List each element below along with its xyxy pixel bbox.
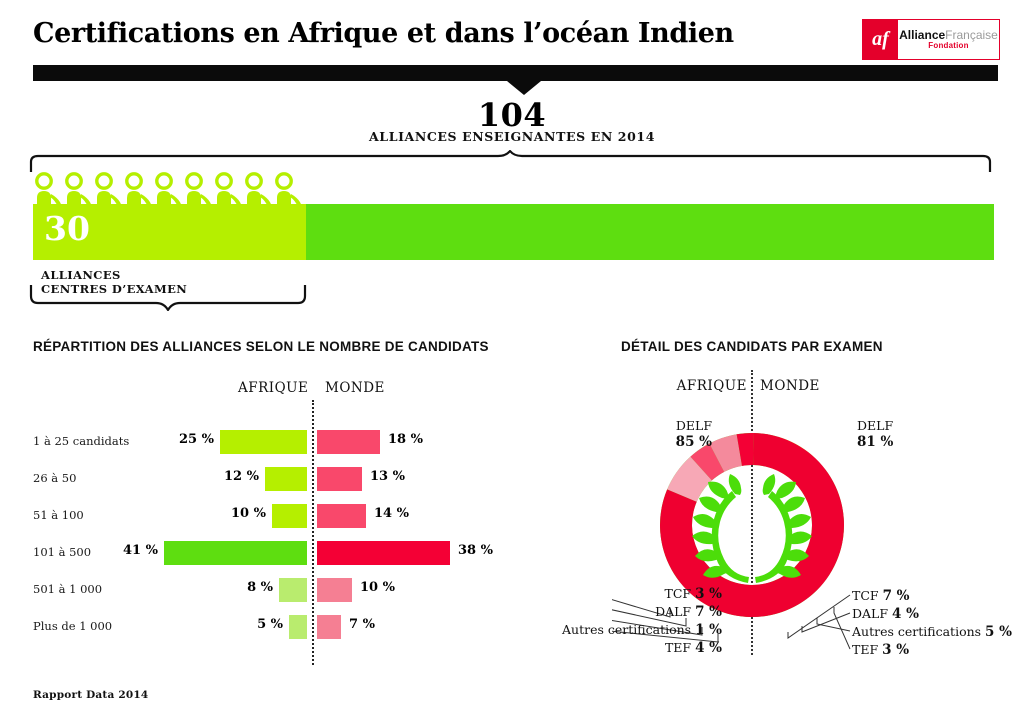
bar-afrique [279,578,307,602]
hero-bar [33,204,994,260]
person-icon [97,174,122,207]
donut-chart: AFRIQUE MONDE [612,370,1012,690]
donut-legend-item-monde: DALF 4 % [852,606,919,623]
top-brace [28,150,993,172]
bottom-brace [28,285,308,311]
donut-label-delf-monde-name: DELF [857,418,893,434]
donut-legend-item-afrique: TEF 4 % [502,640,722,657]
header-black-bar [33,65,998,81]
bar-value-monde: 7 % [349,617,375,632]
bar-chart-section-title: RÉPARTITION DES ALLIANCES SELON LE NOMBR… [33,339,489,354]
bar-chart-category-label: 501 à 1 000 [33,582,193,596]
person-icon [67,174,92,207]
person-icon [37,174,62,207]
bar-chart-header-afrique: AFRIQUE [238,380,308,396]
donut-legend-name: Autres certifications [852,624,985,639]
hero-bar-label-line1: ALLIANCES [41,268,187,282]
bar-chart-category-label: Plus de 1 000 [33,619,193,633]
bar-chart-row: 1 à 25 candidats25 %18 % [33,430,553,454]
infographic-page: Certifications en Afrique et dans l’océa… [0,0,1024,724]
bar-value-monde: 14 % [374,506,409,521]
bar-chart: AFRIQUE MONDE 1 à 25 candidats25 %18 %26… [33,372,553,672]
donut-legend-name: TEF [665,640,695,655]
bar-value-monde: 10 % [360,580,395,595]
donut-legend-item-afrique: DALF 7 % [502,604,722,621]
person-icon [277,174,302,207]
donut-legend-value: 3 % [695,586,722,602]
bar-value-afrique: 41 % [88,543,158,558]
people-icons-row [33,172,313,207]
bar-chart-category-label: 26 à 50 [33,471,193,485]
donut-label-delf-afrique: DELF 85 % [602,418,712,451]
donut-legend-item-monde: TEF 3 % [852,642,909,659]
bar-chart-row: 26 à 5012 %13 % [33,467,553,491]
bar-chart-row: 51 à 10010 %14 % [33,504,553,528]
bar-chart-category-label: 51 à 100 [33,508,193,522]
person-icon [127,174,152,207]
donut-legend-item-monde: TCF 7 % [852,588,909,605]
bar-value-monde: 13 % [370,469,405,484]
bar-chart-row: Plus de 1 0005 %7 % [33,615,553,639]
bar-afrique [164,541,307,565]
donut-legend-name: DALF [852,606,892,621]
laurel-wreath-icon [692,474,812,583]
bar-monde [317,578,352,602]
logo-name-light: Française [945,28,998,42]
bar-afrique [272,504,307,528]
bar-value-afrique: 8 % [203,580,273,595]
bar-monde [317,615,341,639]
bar-afrique [265,467,307,491]
bar-chart-row: 101 à 50041 %38 % [33,541,553,565]
donut-legend-value: 7 % [695,604,722,620]
donut-label-delf-monde-value: 81 % [857,434,893,450]
hero-bar-number: 30 [44,212,90,245]
donut-legend-name: TCF [852,588,883,603]
page-title: Certifications en Afrique et dans l’océa… [33,18,734,49]
person-icon [247,174,272,207]
person-icon [157,174,182,207]
bar-monde [317,467,362,491]
donut-legend-name: TCF [665,586,696,601]
donut-legend-value: 4 % [892,606,919,622]
donut-label-delf-monde: DELF 81 % [857,418,893,451]
person-icon [217,174,242,207]
logo-wordmark: AllianceFrançaise Fondation [898,20,999,59]
bar-chart-row: 501 à 1 0008 %10 % [33,578,553,602]
bar-afrique [289,615,307,639]
donut-legend-value: 5 % [985,624,1012,640]
hero-bar-teaching-alliances [306,204,994,260]
bar-value-monde: 18 % [388,432,423,447]
donut-label-delf-afrique-value: 85 % [676,434,712,450]
bar-value-afrique: 5 % [213,617,283,632]
donut-legend-value: 4 % [695,640,722,656]
logo-subtitle: Fondation [928,42,968,50]
bar-monde [317,504,366,528]
person-icon [187,174,212,207]
bar-afrique [220,430,307,454]
bar-monde [317,430,380,454]
bar-chart-header-monde: MONDE [325,380,385,396]
logo-name: AllianceFrançaise [899,29,998,42]
logo-mark-af: af [863,20,898,59]
donut-legend-name: Autres certifications [562,622,695,637]
donut-legend-name: DALF [655,604,695,619]
bar-value-monde: 38 % [458,543,493,558]
header-pointer-triangle [507,81,541,95]
hero-big-subtitle: ALLIANCES ENSEIGNANTES EN 2014 [0,129,1024,144]
donut-section-title: DÉTAIL DES CANDIDATS PAR EXAMEN [621,339,883,354]
donut-legend-value: 3 % [882,642,909,658]
logo-name-bold: Alliance [899,28,945,42]
bar-monde [317,541,450,565]
donut-legend-item-monde: Autres certifications 5 % [852,624,1012,641]
donut-legend-name: TEF [852,642,882,657]
bar-value-afrique: 12 % [189,469,259,484]
donut-label-delf-afrique-name: DELF [602,418,712,434]
donut-legend-item-afrique: Autres certifications 1 % [502,622,722,639]
bar-value-afrique: 25 % [144,432,214,447]
bar-value-afrique: 10 % [196,506,266,521]
donut-legend-value: 1 % [695,622,722,638]
donut-legend-item-afrique: TCF 3 % [502,586,722,603]
footer-text: Rapport Data 2014 [33,689,148,701]
donut-legend-value: 7 % [883,588,910,604]
alliance-francaise-logo: af AllianceFrançaise Fondation [862,19,1000,60]
